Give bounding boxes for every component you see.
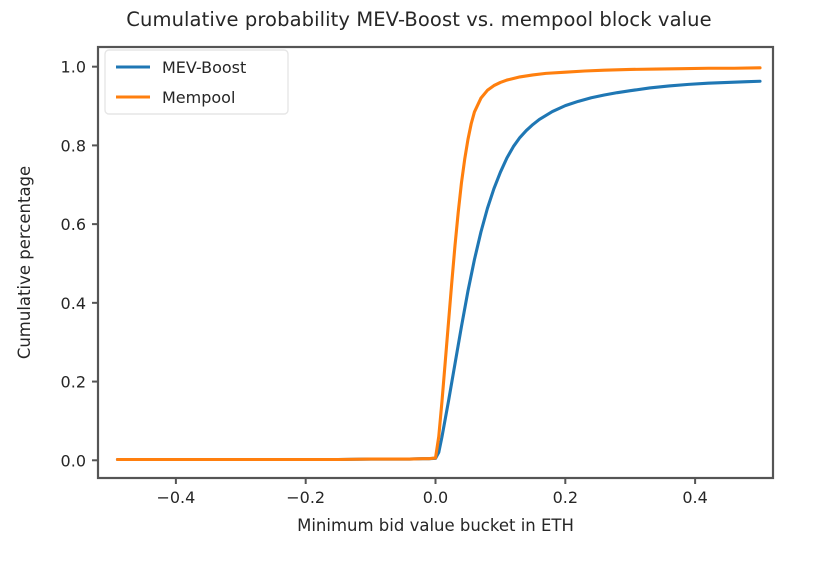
legend-label-mempool: Mempool (162, 88, 235, 107)
y-tick-label: 1.0 (61, 58, 86, 77)
series-group (117, 68, 760, 460)
y-tick-label: 0.8 (61, 136, 86, 155)
y-tick-label: 0.4 (61, 294, 86, 313)
x-tick-label: 0.4 (682, 488, 707, 507)
figure-canvas: Cumulative probability MEV-Boost vs. mem… (0, 0, 838, 568)
y-tick-label: 0.0 (61, 451, 86, 470)
x-tick-label: 0.0 (423, 488, 448, 507)
y-axis-label: Cumulative percentage (15, 166, 34, 359)
x-tick-label: −0.4 (156, 488, 195, 507)
legend: MEV-BoostMempool (105, 50, 288, 114)
series-line-mempool (117, 68, 760, 460)
chart-plot: −0.4−0.20.00.20.40.00.20.40.60.81.0Minim… (0, 0, 838, 568)
y-tick-label: 0.2 (61, 373, 86, 392)
series-line-mev-boost (117, 81, 760, 459)
x-axis-label: Minimum bid value bucket in ETH (297, 516, 574, 535)
y-tick-label: 0.6 (61, 215, 86, 234)
x-tick-label: 0.2 (553, 488, 578, 507)
legend-label-mev-boost: MEV-Boost (162, 58, 246, 77)
x-tick-label: −0.2 (286, 488, 325, 507)
